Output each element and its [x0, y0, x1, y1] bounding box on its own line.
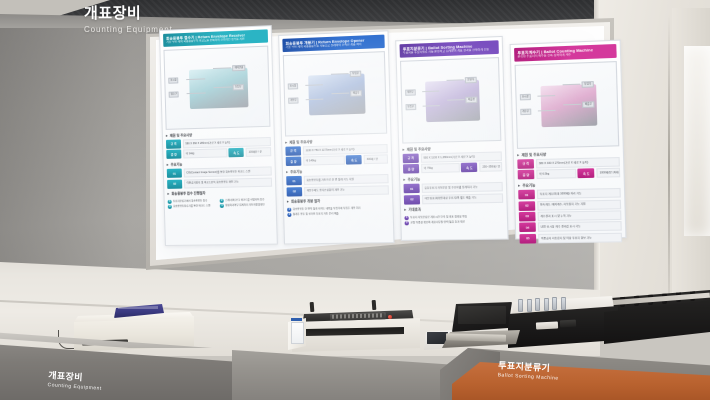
diagram-callout-tag: 투입부: [405, 103, 416, 110]
spec-value: 300매 / 분: [363, 155, 388, 165]
procedure-step-number: 1: [168, 199, 172, 203]
right-wall-recess-light: [684, 46, 710, 236]
spec-row: 중 량약 14kg속 도100매분 / 분: [166, 147, 271, 159]
procedure-step-number: 2: [405, 221, 410, 225]
wall-sign-title-ko: 개표장비: [84, 2, 173, 23]
counting-machine-start-button[interactable]: [388, 315, 392, 319]
panel-section: 제원 및 주요사양규 격380 X 330 X 270mm(가로 X 세로 X …: [517, 150, 620, 180]
spec-value: 약 75kg: [421, 163, 460, 173]
operator-tablet-screen[interactable]: [427, 332, 448, 344]
diagram-callout-tag: 배출부: [582, 101, 594, 108]
sorter-label-plate-left: [536, 322, 558, 330]
panel-section: 제원 및 주요사양규 격580 X 360 X 280mm(가로 X 세로 X …: [166, 130, 272, 159]
information-panel-group: 회송용봉투 접수기 | Return Envelope Receiver거소·우…: [159, 5, 629, 254]
spec-value: LED 표시창 계수 결과값 표시 기능: [537, 221, 622, 232]
procedure-item: 2절개후 봉투 및 선거인 투표지 자동 분리 배출: [287, 211, 389, 217]
diagram-callout-tag: 투입부: [233, 84, 244, 90]
spec-value: 유효투표지 자동분류 및 후보자별 집계처리 기능: [421, 182, 503, 193]
spec-row: 규 격900 X 1130 X 1,280mm(가로 X 세로 X 높이): [403, 151, 502, 163]
spec-value: 미분류표(재확인대상 투표지)의 별도 배출 기능: [421, 193, 503, 204]
panel-header-return-envelope-opener: 회송용봉투 개봉기 | Return Envelope Opener거소·우편·…: [282, 35, 384, 53]
spec-row: 05이중급지 자동감지 및 이상 투표지 경보 기능: [519, 232, 622, 243]
procedure-list: 1회송용봉투 한 면씩 절개 되어도 내용물 투입부에 투입후 개봉 처리2절개…: [287, 204, 390, 217]
spec-label-chip: 속 도: [578, 169, 595, 179]
diagram-callout-tag: 표시창: [519, 93, 531, 100]
spec-label-chip: 속 도: [229, 148, 244, 157]
procedure-step-text: 공정 투명성 확보와 개표사무원 인력 절감 효과 제공: [410, 220, 465, 225]
procedure-step-number: 3: [168, 205, 172, 209]
procedure-step-number: 2: [220, 198, 224, 202]
right-plinth-label: 투표지분류기 Ballot Sorting Machine: [497, 358, 559, 381]
counter-feed-arm-right: [372, 300, 377, 310]
procedure-step-number: 1: [287, 207, 291, 211]
diagram-callout-tag: 분류부: [465, 77, 476, 84]
spec-value: 1130 X 750 X 1275mm(가로 X 세로 X 높이): [302, 144, 387, 155]
panel-section: 주요기능01CIS(Contact Image Sensor)를 통한 회송용봉…: [167, 160, 273, 188]
info-panel-ballot-counting-machine: 투표지계수기 | Ballot Counting Machine분류된 투표지의…: [510, 40, 627, 240]
spec-value: 연속계수, 배치계수, 자동정지 기능 지원: [537, 199, 622, 210]
procedure-item: 1투표지분류기에서 회송용봉투 접수: [168, 199, 220, 204]
spec-row: 04LED 표시창 계수 결과값 표시 기능: [519, 221, 622, 232]
spec-label-chip: 중 량: [286, 157, 302, 167]
spec-row: 02미분류표(재확인대상 투표지)의 별도 배출 기능: [404, 193, 503, 204]
procedure-step-text: 스캐너(바코드) 바코드를 식별하여 접수: [225, 198, 264, 203]
spec-label-chip: 속 도: [346, 155, 362, 165]
spec-label-chip: 01: [404, 184, 420, 194]
procedure-step-text: 회송용봉투 한 면씩 절개 되어도 내용물 투입부에 투입후 개봉 처리: [293, 206, 361, 211]
spec-value: 250~350매 / 분: [479, 162, 502, 172]
spec-value: 380 X 330 X 270mm(가로 X 세로 X 높이): [535, 157, 619, 169]
spec-value: 이중급지 자동감지 및 이상 투표지 경보 기능: [538, 232, 623, 243]
spec-label-chip: 04: [519, 223, 536, 233]
procedure-step-number: 2: [287, 213, 291, 217]
spec-row: 02연속계수, 배치계수, 자동정지 기능 지원: [518, 199, 621, 210]
procedure-item: 3회송용봉투접수기를 통한 바코드 스캔: [168, 204, 220, 209]
spec-value: 약 6.5kg: [536, 169, 577, 179]
diagram-callout-tag: 배출부: [351, 90, 362, 97]
sorter-guide-vial: [544, 298, 549, 311]
spec-label-chip: 규 격: [517, 159, 534, 169]
spec-row: 중 량약 140kg속 도300매 / 분: [286, 155, 388, 167]
panel-diagram-return-envelope-receiver: 표시창접수구제어판넬투입부: [163, 46, 270, 130]
spec-label-chip: 속 도: [461, 163, 478, 173]
spec-label-chip: 중 량: [518, 170, 535, 180]
diagram-callout-tag: 배출함: [466, 96, 477, 103]
spec-row: 01회송용봉투를 자동으로 한 면 절개 기능 지원: [286, 174, 388, 185]
info-panel-return-envelope-receiver: 회송용봉투 접수기 | Return Envelope Receiver거소·우…: [159, 25, 278, 246]
diagram-callout-tag: 계수부: [520, 108, 532, 115]
spec-row: 02이중급지방지 및 바코드판독 회송용봉투 확인 기능: [167, 177, 272, 188]
panel-section: 주요기능01유효투표지 자동분류 및 후보자별 집계처리 기능02미분류표(재확…: [403, 175, 503, 204]
panel-section: 주요기능01회송용봉투를 자동으로 한 면 절개 기능 지원02개봉후에도 용지…: [286, 168, 389, 197]
sorter-guide-vial: [518, 299, 523, 312]
spec-label-chip: 01: [167, 169, 182, 178]
spec-label-chip: 02: [404, 195, 420, 205]
diagram-callout-tag: 제어부: [405, 89, 416, 96]
panel-diagram-ballot-sorting-machine: 제어부투입부분류부배출함: [400, 57, 501, 144]
spec-row: 01CIS(Contact Image Sensor)를 통한 회송용봉투 바코…: [167, 167, 272, 179]
wall-corner-seam: [668, 14, 670, 314]
procedure-step-number: 1: [404, 216, 409, 220]
spec-label-chip: 03: [519, 212, 536, 222]
spec-value: 이중급지방지 및 바코드판독 회송용봉투 확인 기능: [183, 177, 272, 188]
panel-header-ballot-sorting-machine: 투표지분류기 | Ballot Sorting Machine투표지를 후보자별…: [400, 40, 499, 57]
spec-value: CIS(Contact Image Sensor)를 통한 회송용봉투 바코드 …: [183, 167, 272, 178]
sorter-guide-vial: [561, 297, 566, 310]
spec-value: 약 140kg: [303, 156, 345, 166]
spec-value: 580 X 360 X 280mm(가로 X 세로 X 높이): [182, 137, 271, 149]
spec-value: 약 14kg: [183, 149, 228, 159]
panel-header-ballot-counting-machine: 투표지계수기 | Ballot Counting Machine분류된 투표지의…: [514, 44, 617, 62]
procedure-list: 1투표지분류기에서 회송용봉투 접수2스캐너(바코드) 바코드를 식별하여 접수…: [168, 196, 273, 209]
procedure-step-text: 투표지분류기에서 회송용봉투 접수: [173, 199, 207, 204]
counting-machine-side-label: [291, 322, 304, 344]
spec-label-chip: 중 량: [166, 150, 181, 159]
spec-value: 900 X 1130 X 1,280mm(가로 X 세로 X 높이): [420, 151, 502, 162]
panel-section: 제원 및 주요사양규 격1130 X 750 X 1275mm(가로 X 세로 …: [285, 137, 388, 166]
spec-value: 1000매/분 (최대속도 기준): [596, 168, 620, 178]
panel-section: 회송용봉투 접수 진행절차1투표지분류기에서 회송용봉투 접수2스캐너(바코드)…: [167, 190, 272, 209]
info-panel-ballot-sorting-machine: 투표지분류기 | Ballot Sorting Machine투표지를 후보자별…: [395, 36, 509, 241]
procedure-list: 1투표지 자동분류로 개표시간 단축 및 개표 정확성 향상2공정 투명성 확보…: [404, 213, 503, 226]
spec-label-chip: 규 격: [403, 153, 419, 163]
procedure-step-text: 정상처리여부 집계처리 자동저장및확인: [225, 203, 264, 208]
panel-section: 주요기능01투표지 계수(최대 1000매) 처리 기능02연속계수, 배치계수…: [518, 181, 622, 243]
counting-machine-blue-strip: [291, 318, 302, 321]
sorter-guide-vial: [535, 298, 540, 311]
spec-value: 투표지 계수(최대 1000매) 처리 기능: [536, 188, 620, 199]
spec-value: 회송용봉투를 자동으로 한 면 절개 기능 지원: [303, 174, 388, 185]
spec-row: 01투표지 계수(최대 1000매) 처리 기능: [518, 188, 621, 199]
panel-diagram-return-envelope-opener: 표시창개봉부투입부배출부: [283, 51, 387, 136]
left-plinth-label: 개표장비 Counting Equipment: [47, 368, 103, 392]
sorter-guide-vial: [527, 299, 532, 312]
section-heading: 기대효과: [404, 206, 503, 213]
diagram-callout-tag: 개봉부: [288, 97, 299, 103]
spec-row: 중 량약 75kg속 도250~350매 / 분: [403, 162, 502, 174]
spec-value: 계수결과 표시 및 누적 기능: [537, 210, 622, 221]
sorter-guide-vials: [516, 296, 568, 310]
procedure-step-text: 절개후 봉투 및 선거인 투표지 자동 분리 배출: [293, 212, 339, 217]
spec-label-chip: 중 량: [403, 164, 419, 174]
panel-header-return-envelope-receiver: 회송용봉투 접수기 | Return Envelope Receiver거소·우…: [163, 29, 268, 47]
sorter-lid-interior: [458, 306, 506, 324]
exhibition-room-scene: 개표장비 Counting Equipment 회송용봉투 접수기 | Retu…: [0, 0, 710, 400]
info-panel-return-envelope-opener: 회송용봉투 개봉기 | Return Envelope Opener거소·우편·…: [278, 30, 394, 244]
counter-feed-arm-left: [310, 302, 315, 312]
spec-label-chip: 01: [286, 176, 302, 186]
sorter-guide-vial: [552, 297, 557, 310]
spec-label-chip: 02: [167, 179, 182, 188]
spec-row: 03계수결과 표시 및 누적 기능: [519, 210, 622, 221]
procedure-step-text: 회송용봉투접수기를 통한 바코드 스캔: [173, 204, 210, 209]
spec-row: 01유효투표지 자동분류 및 후보자별 집계처리 기능: [404, 182, 503, 193]
diagram-callout-tag: 투입부: [350, 71, 361, 78]
spec-label-chip: 02: [287, 187, 303, 196]
procedure-step-text: 투표지 자동분류로 개표시간 단축 및 개표 정확성 향상: [410, 215, 467, 220]
spec-row: 규 격380 X 330 X 270mm(가로 X 세로 X 높이): [517, 157, 620, 169]
spec-row: 중 량약 6.5kg속 도1000매/분 (최대속도 기준): [518, 168, 621, 180]
spec-label-chip: 규 격: [285, 146, 301, 156]
procedure-step-number: 4: [220, 204, 224, 208]
spec-label-chip: 규 격: [166, 139, 181, 148]
panel-section: 회송용봉투 개봉 절차1회송용봉투 한 면씩 절개 되어도 내용물 투입부에 투…: [287, 198, 390, 217]
panel-diagram-ballot-counting-machine: 표시창계수부투입부배출부: [515, 61, 620, 149]
spec-value: 개봉후에도 용지손상없이 개봉 기능: [304, 185, 389, 196]
sorter-label-plate-right: [560, 320, 576, 328]
procedure-item: 4정상처리여부 집계처리 자동저장및확인: [220, 203, 273, 208]
procedure-item: 2공정 투명성 확보와 개표사무원 인력 절감 효과 제공: [405, 220, 504, 226]
spec-label-chip: 02: [518, 201, 535, 211]
spec-value: 100매분 / 분: [245, 147, 271, 157]
spec-row: 02개봉후에도 용지손상없이 개봉 기능: [287, 185, 389, 196]
diagram-callout-tag: 표시창: [288, 83, 299, 89]
diagram-callout-tag: 제어판넬: [232, 65, 245, 72]
diagram-callout-tag: 투입부: [582, 81, 594, 88]
panel-section: 기대효과1투표지 자동분류로 개표시간 단축 및 개표 정확성 향상2공정 투명…: [404, 206, 504, 225]
procedure-item: 2스캐너(바코드) 바코드를 식별하여 접수: [220, 198, 273, 203]
spec-label-chip: 01: [518, 190, 535, 200]
diagram-callout-tag: 접수구: [169, 91, 179, 97]
panel-section: 제원 및 주요사양규 격900 X 1130 X 1,280mm(가로 X 세로…: [402, 145, 502, 174]
spec-label-chip: 05: [519, 234, 536, 244]
diagram-callout-tag: 표시창: [168, 77, 178, 83]
